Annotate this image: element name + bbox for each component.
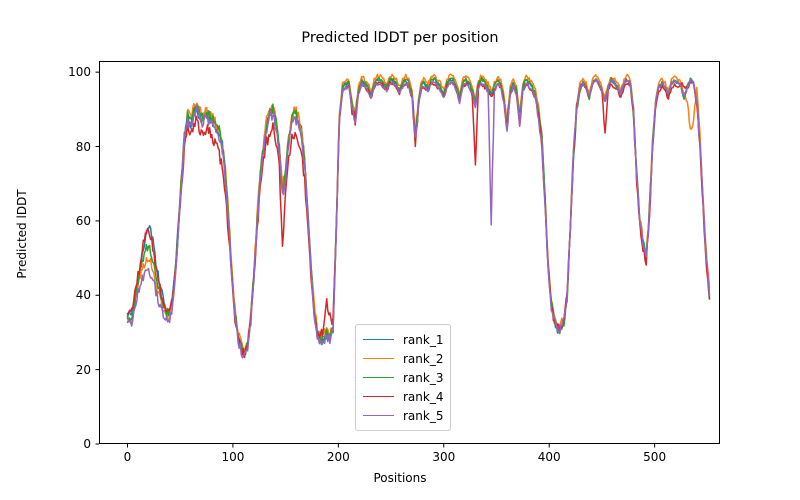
y-axis-tick-labels: 020406080100 [55,61,91,444]
legend-item-rank_1[interactable]: rank_1 [363,330,443,349]
x-tick-label: 0 [124,450,132,464]
legend-swatch-rank_5 [363,415,394,416]
page-title: Predicted lDDT per position [0,30,800,46]
x-tick-label: 500 [643,450,666,464]
legend-label: rank_4 [403,390,443,404]
legend-swatch-rank_1 [363,339,394,340]
x-axis-tick-labels: 0100200300400500 [99,450,720,468]
x-axis-label: Positions [0,471,800,485]
legend[interactable]: rank_1rank_2rank_3rank_4rank_5 [355,324,451,431]
y-tick-label: 0 [83,437,91,451]
legend-swatch-rank_3 [363,377,394,378]
x-tick-label: 300 [432,450,455,464]
x-tick-label: 100 [221,450,244,464]
y-tick-label: 60 [76,214,91,228]
y-axis-label: Predicted lDDT [15,134,29,334]
legend-item-rank_2[interactable]: rank_2 [363,349,443,368]
legend-label: rank_5 [403,409,443,423]
y-tick-label: 80 [76,140,91,154]
legend-item-rank_4[interactable]: rank_4 [363,387,443,406]
legend-swatch-rank_2 [363,358,394,359]
legend-item-rank_5[interactable]: rank_5 [363,406,443,425]
legend-swatch-rank_4 [363,396,394,397]
y-tick-label: 40 [76,288,91,302]
legend-label: rank_1 [403,333,443,347]
y-tick-label: 20 [76,363,91,377]
x-tick-label: 200 [327,450,350,464]
x-tick-label: 400 [538,450,561,464]
y-tick-label: 100 [68,65,91,79]
matplotlib-figure: Predicted lDDT per position 020406080100… [0,0,800,500]
legend-label: rank_3 [403,371,443,385]
legend-label: rank_2 [403,352,443,366]
legend-item-rank_3[interactable]: rank_3 [363,368,443,387]
